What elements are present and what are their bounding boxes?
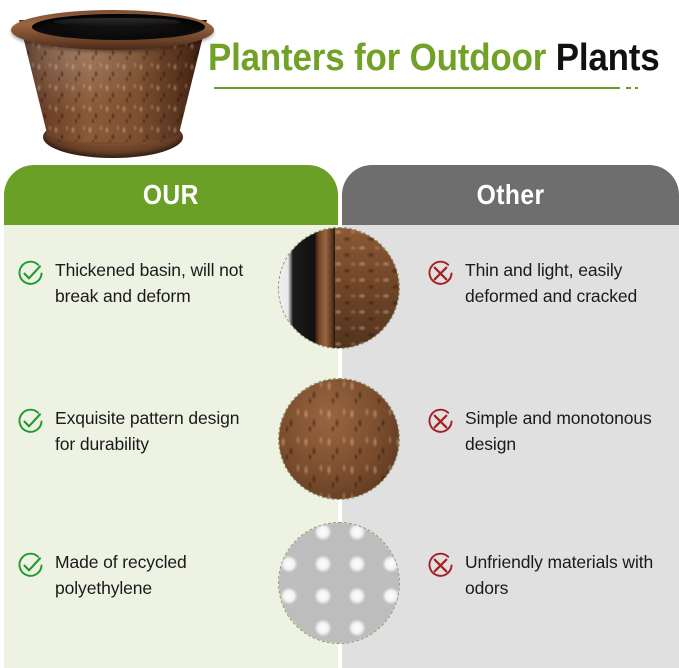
white-polyethylene-pellets-closeup xyxy=(278,522,400,644)
rim-texture xyxy=(333,228,399,348)
check-circle-icon xyxy=(16,407,45,436)
title-underline xyxy=(214,87,620,89)
pot-surface-pattern-closeup xyxy=(278,378,400,500)
pot-rim-thickness-closeup xyxy=(278,227,400,349)
title-underline-dash-2 xyxy=(635,87,638,89)
other-column-header: Other xyxy=(342,165,679,225)
pot-rim xyxy=(11,10,214,50)
list-item-label: Made of recycled polyethylene xyxy=(55,549,258,601)
product-image-planter-pot xyxy=(5,4,220,162)
check-circle-icon xyxy=(16,259,45,288)
list-item-label: Unfriendly materials with odors xyxy=(465,549,673,601)
x-circle-icon xyxy=(426,551,455,580)
rim-inner-wall xyxy=(279,228,320,348)
infographic-page: Planters for Outdoor Plants OUR xyxy=(0,0,679,668)
list-item-label: Exquisite pattern design for durability xyxy=(55,405,258,457)
rim-edge-band xyxy=(315,228,335,348)
pot-opening xyxy=(32,14,205,40)
page-title: Planters for Outdoor Plants xyxy=(208,36,676,89)
list-item-label: Thin and light, easily deformed and crac… xyxy=(465,257,673,309)
page-title-highlight: Planters for Outdoor xyxy=(208,37,546,79)
our-column-header: OUR xyxy=(4,165,338,225)
title-underline-dash-1 xyxy=(626,87,631,89)
list-item-label: Thickened basin, will not break and defo… xyxy=(55,257,258,309)
comparison-section: OUR Thickened basin, will not break and … xyxy=(0,165,679,668)
other-column-header-label: Other xyxy=(477,179,545,211)
hero-section: Planters for Outdoor Plants xyxy=(0,0,679,165)
inset-image xyxy=(279,379,399,499)
check-circle-icon xyxy=(16,551,45,580)
inset-image xyxy=(279,228,399,348)
list-item-label: Simple and monotonous design xyxy=(465,405,673,457)
x-circle-icon xyxy=(426,259,455,288)
inset-image xyxy=(279,523,399,643)
page-title-rest: Plants xyxy=(546,37,659,79)
x-circle-icon xyxy=(426,407,455,436)
our-column-header-label: OUR xyxy=(143,179,199,211)
